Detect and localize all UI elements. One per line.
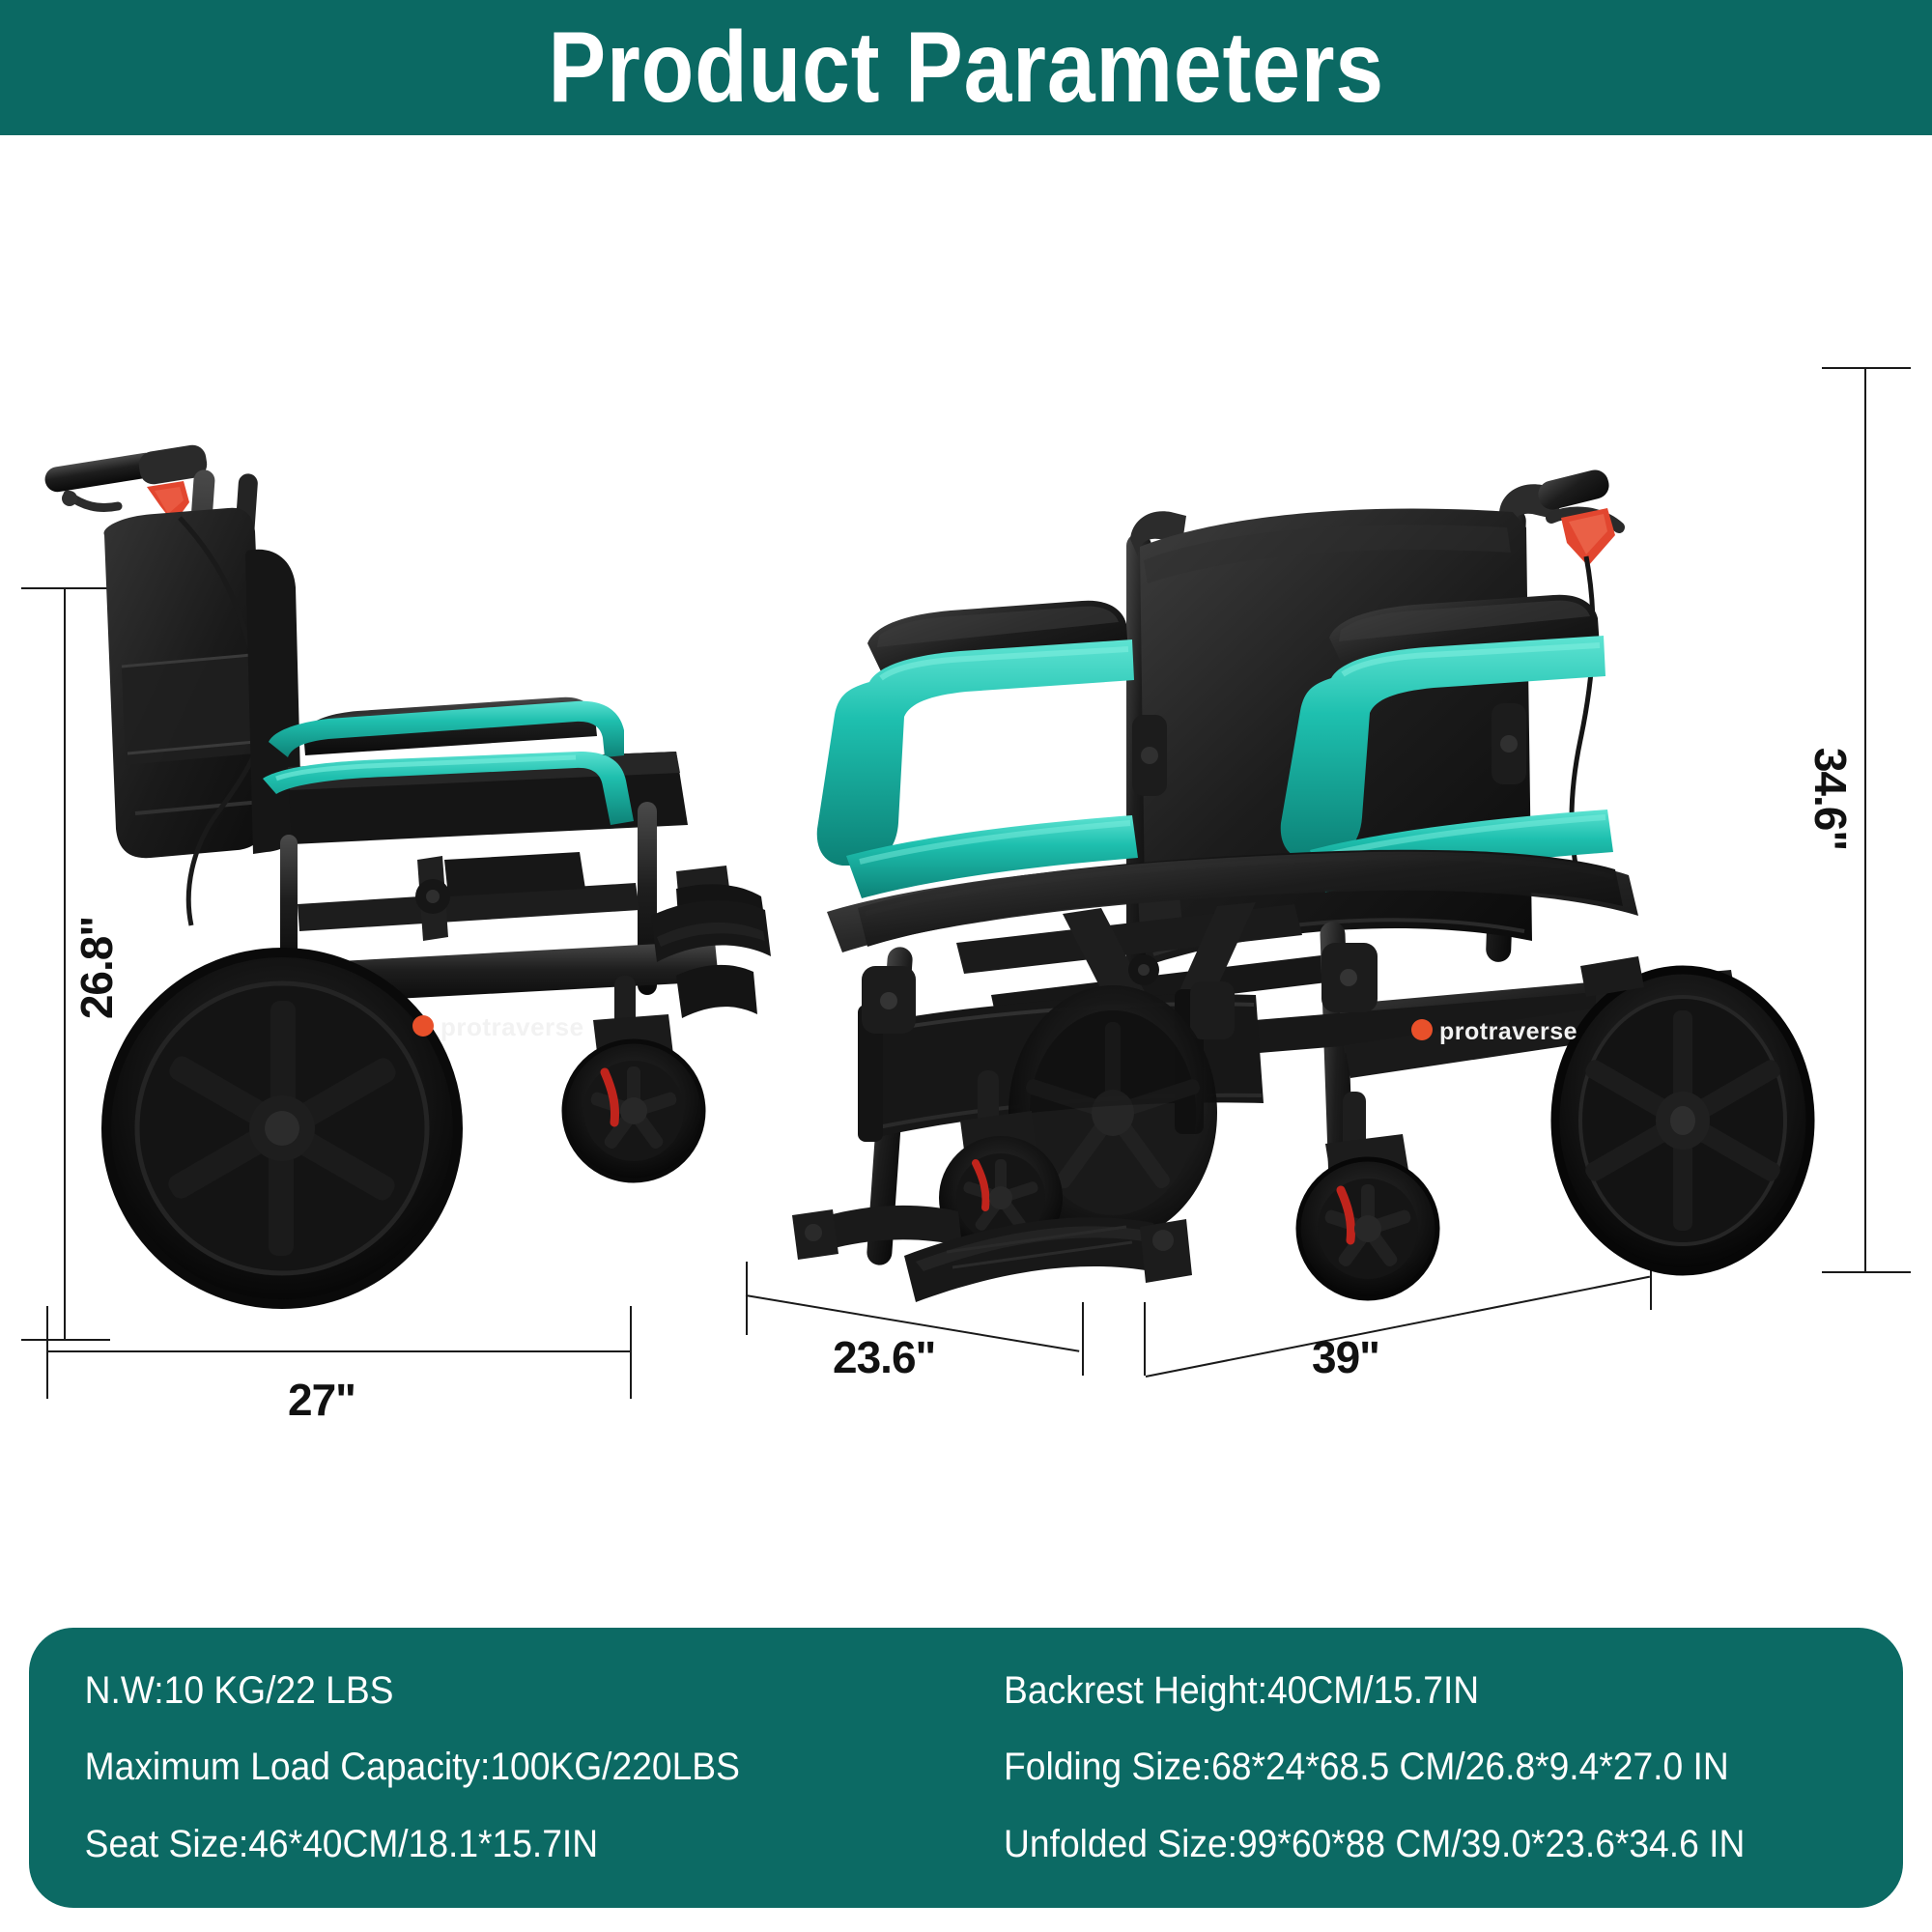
dim-width-folded-line — [46, 1350, 632, 1352]
wheelchair-side-view: protraverse — [39, 435, 773, 1343]
header-banner: Product Parameters — [0, 0, 1932, 135]
folding-bracket — [415, 856, 450, 941]
specifications-panel: N.W:10 KG/22 LBS Maximum Load Capacity:1… — [29, 1628, 1903, 1908]
storage-bag — [104, 508, 268, 858]
brand-logo-side: protraverse — [412, 1012, 584, 1041]
svg-text:protraverse: protraverse — [440, 1012, 584, 1041]
dim-height-unfolded-line — [1864, 367, 1866, 1273]
armrest-left — [817, 601, 1138, 898]
wheelchair-front-three-quarter-view: protraverse — [753, 328, 1855, 1352]
spec-net-weight: N.W:10 KG/22 LBS — [29, 1669, 900, 1713]
spec-unfolded-size: Unfolded Size:99*60*88 CM/39.0*23.6*34.6… — [966, 1823, 1837, 1866]
spec-backrest-height: Backrest Height:40CM/15.7IN — [966, 1669, 1837, 1713]
product-image-stage: 26.8" 27" 34.6" 23.6" 39" — [0, 135, 1932, 1628]
front-caster-right — [1298, 1092, 1437, 1298]
spec-seat-size: Seat Size:46*40CM/18.1*15.7IN — [29, 1823, 900, 1866]
rear-wheel-front-view — [1555, 970, 1810, 1271]
page-title: Product Parameters — [548, 17, 1384, 118]
spec-column-right: Backrest Height:40CM/15.7IN Folding Size… — [966, 1653, 1903, 1883]
rear-wheel-side — [106, 952, 458, 1304]
spec-column-left: N.W:10 KG/22 LBS Maximum Load Capacity:1… — [29, 1653, 966, 1883]
spec-folding-size: Folding Size:68*24*68.5 CM/26.8*9.4*27.0… — [966, 1746, 1837, 1789]
spec-max-load: Maximum Load Capacity:100KG/220LBS — [29, 1746, 900, 1789]
svg-text:protraverse: protraverse — [1439, 1018, 1577, 1045]
dim-width-folded-label: 27" — [288, 1374, 355, 1426]
